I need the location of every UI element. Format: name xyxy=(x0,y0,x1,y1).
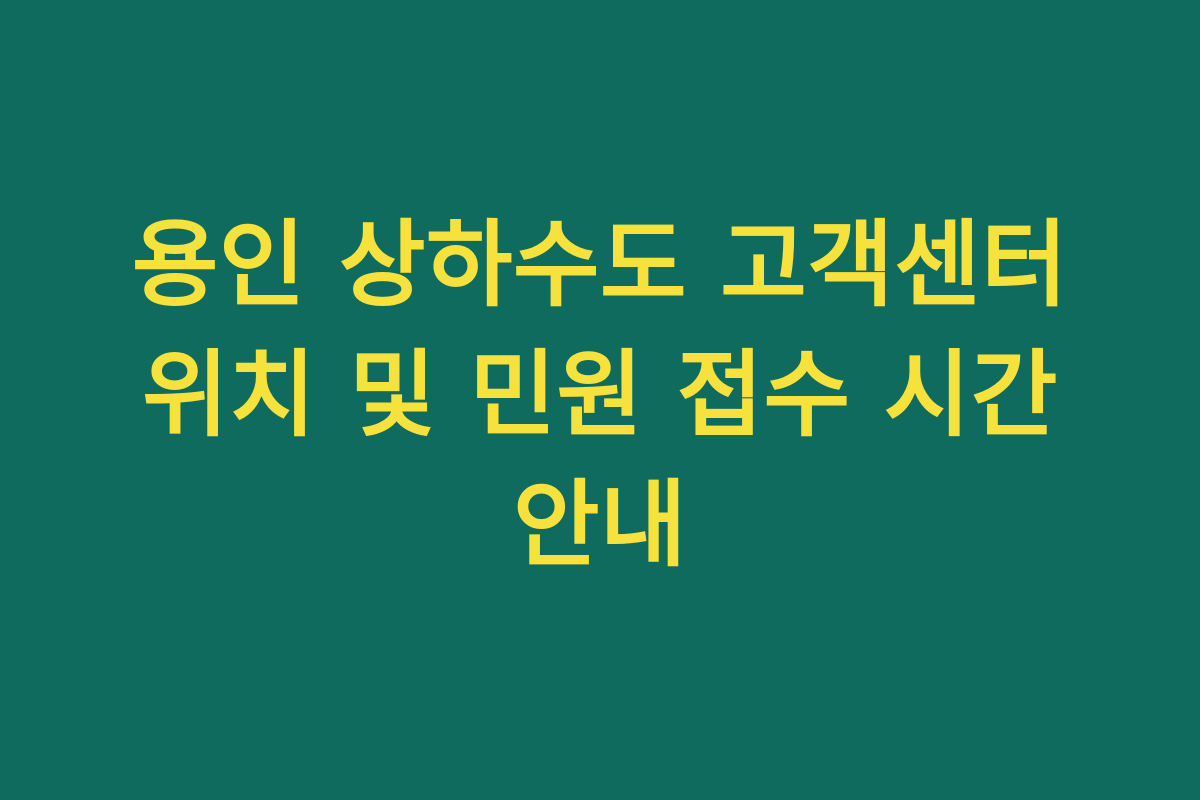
title-line-2: 위치 및 민원 접수 시간 xyxy=(142,331,1058,461)
title-line-1: 용인 상하수도 고객센터 xyxy=(132,201,1068,331)
title-line-3: 안내 xyxy=(513,461,687,591)
page-title: 용인 상하수도 고객센터 위치 및 민원 접수 시간 안내 xyxy=(70,201,1130,591)
title-card: 용인 상하수도 고객센터 위치 및 민원 접수 시간 안내 xyxy=(0,0,1200,800)
